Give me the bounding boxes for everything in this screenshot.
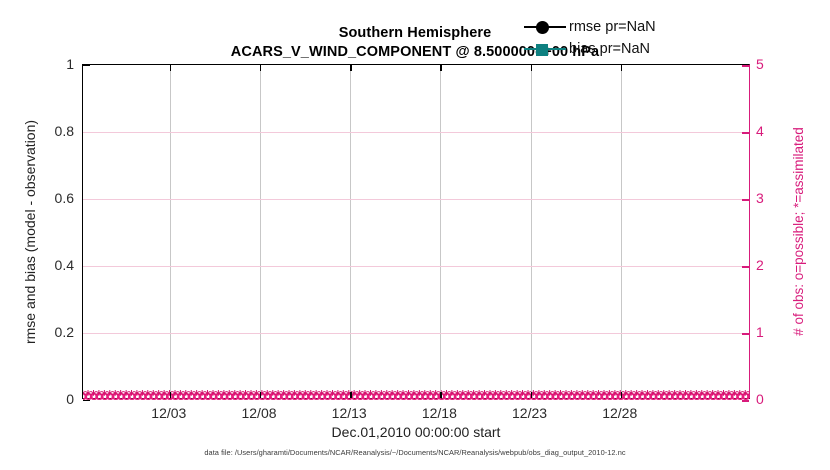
obs-assimilated-marker: * xyxy=(574,390,580,402)
obs-possible-marker: o xyxy=(443,390,451,403)
obs-assimilated-marker: * xyxy=(188,390,194,402)
obs-assimilated-marker: * xyxy=(595,390,601,402)
obs-assimilated-marker: * xyxy=(226,390,232,402)
obs-assimilated-marker: * xyxy=(552,390,558,402)
obs-assimilated-marker: * xyxy=(557,390,563,402)
x-axis-tick xyxy=(531,392,532,398)
obs-assimilated-marker: * xyxy=(693,390,699,402)
obs-assimilated-marker: * xyxy=(606,390,612,402)
x-axis-tick xyxy=(350,392,351,398)
obs-possible-marker: o xyxy=(693,390,701,403)
x-axis-tick-label: 12/13 xyxy=(309,406,389,420)
legend-sample-bias xyxy=(524,40,566,58)
obs-possible-marker: o xyxy=(513,390,521,403)
y-axis-left-tick-label: 0 xyxy=(4,392,74,406)
obs-possible-marker: o xyxy=(448,390,456,403)
obs-possible-marker: o xyxy=(236,390,244,403)
obs-assimilated-marker: * xyxy=(405,390,411,402)
obs-assimilated-marker: * xyxy=(585,390,591,402)
y-axis-left-tick-label: 0.6 xyxy=(4,191,74,205)
obs-assimilated-marker: * xyxy=(313,390,319,402)
obs-possible-marker: o xyxy=(416,390,424,403)
obs-possible-marker: o xyxy=(307,390,315,403)
obs-possible-marker: o xyxy=(622,390,630,403)
obs-possible-marker: o xyxy=(226,390,234,403)
x-gridline xyxy=(621,65,622,398)
obs-possible-marker: o xyxy=(546,390,554,403)
obs-assimilated-marker: * xyxy=(443,390,449,402)
obs-assimilated-marker: * xyxy=(101,390,107,402)
obs-assimilated-marker: * xyxy=(362,390,368,402)
y-axis-left-tick xyxy=(83,400,90,401)
square-marker-icon xyxy=(536,44,548,56)
obs-possible-marker: o xyxy=(459,390,467,403)
obs-possible-marker: o xyxy=(112,390,120,403)
obs-possible-marker: o xyxy=(367,390,375,403)
obs-assimilated-marker: * xyxy=(633,390,639,402)
obs-assimilated-marker: * xyxy=(612,390,618,402)
obs-assimilated-marker: * xyxy=(460,390,466,402)
y-axis-right-tick-label: 1 xyxy=(756,325,796,339)
obs-assimilated-marker: * xyxy=(661,390,667,402)
obs-possible-marker: o xyxy=(90,390,98,403)
y-axis-left-tick-label: 1 xyxy=(4,57,74,71)
obs-possible-marker: o xyxy=(351,390,359,403)
obs-possible-marker: o xyxy=(361,390,369,403)
obs-possible-marker: o xyxy=(106,390,114,403)
obs-assimilated-marker: * xyxy=(172,390,178,402)
obs-assimilated-marker: * xyxy=(547,390,553,402)
obs-possible-marker: o xyxy=(470,390,478,403)
obs-assimilated-marker: * xyxy=(134,390,140,402)
obs-possible-marker: o xyxy=(209,390,217,403)
obs-assimilated-marker: * xyxy=(215,390,221,402)
obs-possible-marker: o xyxy=(144,390,152,403)
obs-assimilated-marker: * xyxy=(568,390,574,402)
obs-possible-marker: o xyxy=(389,390,397,403)
obs-assimilated-marker: * xyxy=(394,390,400,402)
obs-assimilated-marker: * xyxy=(270,390,276,402)
obs-possible-marker: o xyxy=(600,390,608,403)
obs-possible-marker: o xyxy=(628,390,636,403)
obs-assimilated-marker: * xyxy=(492,390,498,402)
obs-assimilated-marker: * xyxy=(183,390,189,402)
obs-possible-marker: o xyxy=(508,390,516,403)
obs-assimilated-marker: * xyxy=(199,390,205,402)
obs-possible-marker: o xyxy=(492,390,500,403)
obs-assimilated-marker: * xyxy=(709,390,715,402)
plot-area: o*o*o*o*o*o*o*o*o*o*o*o*o*o*o*o*o*o*o*o*… xyxy=(82,64,750,399)
obs-possible-marker: o xyxy=(247,390,255,403)
obs-assimilated-marker: * xyxy=(563,390,569,402)
x-axis-tick-label: 12/23 xyxy=(490,406,570,420)
obs-assimilated-marker: * xyxy=(340,390,346,402)
obs-possible-marker: o xyxy=(454,390,462,403)
obs-assimilated-marker: * xyxy=(644,390,650,402)
obs-assimilated-marker: * xyxy=(308,390,314,402)
obs-assimilated-marker: * xyxy=(454,390,460,402)
obs-possible-marker: o xyxy=(709,390,717,403)
obs-possible-marker: o xyxy=(644,390,652,403)
obs-possible-marker: o xyxy=(285,390,293,403)
obs-assimilated-marker: * xyxy=(666,390,672,402)
obs-assimilated-marker: * xyxy=(726,390,732,402)
obs-assimilated-marker: * xyxy=(449,390,455,402)
obs-possible-marker: o xyxy=(666,390,674,403)
obs-possible-marker: o xyxy=(590,390,598,403)
obs-assimilated-marker: * xyxy=(720,390,726,402)
obs-possible-marker: o xyxy=(568,390,576,403)
chart-title-block: Southern Hemisphere ACARS_V_WIND_COMPONE… xyxy=(0,24,830,62)
x-axis-tick-label: 12/28 xyxy=(580,406,660,420)
obs-possible-marker: o xyxy=(655,390,663,403)
obs-possible-marker: o xyxy=(171,390,179,403)
x-axis-tick-label: 12/18 xyxy=(399,406,479,420)
x-axis-tick-top xyxy=(260,65,261,71)
obs-assimilated-marker: * xyxy=(699,390,705,402)
obs-assimilated-marker: * xyxy=(688,390,694,402)
x-axis-tick-top xyxy=(440,65,441,71)
obs-assimilated-marker: * xyxy=(253,390,259,402)
obs-assimilated-marker: * xyxy=(514,390,520,402)
obs-possible-marker: o xyxy=(720,390,728,403)
obs-assimilated-marker: * xyxy=(177,390,183,402)
obs-possible-marker: o xyxy=(264,390,272,403)
obs-possible-marker: o xyxy=(465,390,473,403)
obs-possible-marker: o xyxy=(329,390,337,403)
obs-assimilated-marker: * xyxy=(242,390,248,402)
obs-assimilated-marker: * xyxy=(237,390,243,402)
obs-possible-marker: o xyxy=(383,390,391,403)
obs-assimilated-marker: * xyxy=(677,390,683,402)
obs-assimilated-marker: * xyxy=(650,390,656,402)
y-axis-right-title-text: # of obs: o=possible; *=assimilated xyxy=(791,127,806,336)
obs-assimilated-marker: * xyxy=(335,390,341,402)
y-axis-right-tick xyxy=(742,400,749,402)
obs-possible-marker: o xyxy=(291,390,299,403)
obs-assimilated-marker: * xyxy=(318,390,324,402)
obs-assimilated-marker: * xyxy=(433,390,439,402)
obs-assimilated-marker: * xyxy=(210,390,216,402)
y-axis-right-tick xyxy=(742,199,749,201)
obs-assimilated-marker: * xyxy=(536,390,542,402)
obs-assimilated-marker: * xyxy=(324,390,330,402)
obs-possible-marker: o xyxy=(275,390,283,403)
obs-possible-marker: o xyxy=(122,390,130,403)
obs-possible-marker: o xyxy=(215,390,223,403)
obs-possible-marker: o xyxy=(95,390,103,403)
circle-marker-icon xyxy=(536,21,549,34)
y-axis-right-tick xyxy=(742,132,749,134)
obs-possible-marker: o xyxy=(280,390,288,403)
obs-assimilated-marker: * xyxy=(112,390,118,402)
obs-assimilated-marker: * xyxy=(731,390,737,402)
obs-possible-marker: o xyxy=(193,390,201,403)
obs-assimilated-marker: * xyxy=(90,390,96,402)
obs-possible-marker: o xyxy=(475,390,483,403)
obs-assimilated-marker: * xyxy=(509,390,515,402)
obs-assimilated-marker: * xyxy=(150,390,156,402)
obs-assimilated-marker: * xyxy=(601,390,607,402)
obs-possible-marker: o xyxy=(155,390,163,403)
obs-possible-marker: o xyxy=(160,390,168,403)
obs-possible-marker: o xyxy=(182,390,190,403)
obs-possible-marker: o xyxy=(334,390,342,403)
obs-possible-marker: o xyxy=(432,390,440,403)
obs-possible-marker: o xyxy=(318,390,326,403)
y-axis-left-tick-label: 0.8 xyxy=(4,124,74,138)
chart-title-line-2: ACARS_V_WIND_COMPONENT @ 8.500000e+00 hP… xyxy=(0,43,830,62)
obs-possible-marker: o xyxy=(313,390,321,403)
obs-assimilated-marker: * xyxy=(427,390,433,402)
obs-assimilated-marker: * xyxy=(280,390,286,402)
obs-possible-marker: o xyxy=(562,390,570,403)
obs-possible-marker: o xyxy=(611,390,619,403)
obs-possible-marker: o xyxy=(541,390,549,403)
obs-possible-marker: o xyxy=(117,390,125,403)
chart-legend: rmse pr=NaN bias pr=NaN xyxy=(524,16,656,60)
obs-possible-marker: o xyxy=(394,390,402,403)
x-axis-tick-top xyxy=(621,65,622,71)
y-axis-left-title-text: rmse and bias (model - observation) xyxy=(22,119,38,343)
obs-possible-marker: o xyxy=(725,390,733,403)
y-axis-right-tick-label: 0 xyxy=(756,392,796,406)
obs-assimilated-marker: * xyxy=(194,390,200,402)
obs-assimilated-marker: * xyxy=(118,390,124,402)
obs-assimilated-marker: * xyxy=(145,390,151,402)
obs-possible-marker: o xyxy=(356,390,364,403)
data-file-footer: data file: /Users/gharamti/Documents/NCA… xyxy=(0,448,830,457)
y-axis-left-tick xyxy=(83,65,90,66)
obs-assimilated-marker: * xyxy=(128,390,134,402)
obs-possible-marker: o xyxy=(551,390,559,403)
obs-possible-marker: o xyxy=(198,390,206,403)
obs-possible-marker: o xyxy=(486,390,494,403)
x-axis-tick-label: 12/03 xyxy=(129,406,209,420)
obs-possible-marker: o xyxy=(177,390,185,403)
obs-possible-marker: o xyxy=(405,390,413,403)
obs-assimilated-marker: * xyxy=(264,390,270,402)
obs-assimilated-marker: * xyxy=(704,390,710,402)
y-axis-right-tick xyxy=(742,65,749,67)
obs-possible-marker: o xyxy=(378,390,386,403)
obs-assimilated-marker: * xyxy=(628,390,634,402)
obs-possible-marker: o xyxy=(481,390,489,403)
obs-assimilated-marker: * xyxy=(351,390,357,402)
obs-possible-marker: o xyxy=(372,390,380,403)
obs-possible-marker: o xyxy=(535,390,543,403)
x-axis-tick-top xyxy=(170,65,171,71)
obs-possible-marker: o xyxy=(188,390,196,403)
obs-possible-marker: o xyxy=(231,390,239,403)
obs-possible-marker: o xyxy=(595,390,603,403)
legend-item-bias: bias pr=NaN xyxy=(524,38,656,60)
obs-assimilated-marker: * xyxy=(286,390,292,402)
x-axis-tick xyxy=(170,392,171,398)
obs-possible-marker: o xyxy=(557,390,565,403)
obs-assimilated-marker: * xyxy=(248,390,254,402)
y-axis-right-tick xyxy=(742,266,749,268)
obs-assimilated-marker: * xyxy=(671,390,677,402)
obs-assimilated-marker: * xyxy=(161,390,167,402)
obs-assimilated-marker: * xyxy=(503,390,509,402)
obs-possible-marker: o xyxy=(399,390,407,403)
obs-assimilated-marker: * xyxy=(471,390,477,402)
obs-possible-marker: o xyxy=(671,390,679,403)
x-gridline xyxy=(260,65,261,398)
obs-assimilated-marker: * xyxy=(465,390,471,402)
y-axis-right-tick-label: 2 xyxy=(756,258,796,272)
y-axis-right-tick xyxy=(742,333,749,335)
obs-assimilated-marker: * xyxy=(139,390,145,402)
x-axis-tick-top xyxy=(531,65,532,71)
obs-assimilated-marker: * xyxy=(715,390,721,402)
x-gridline xyxy=(170,65,171,398)
obs-possible-marker: o xyxy=(649,390,657,403)
obs-assimilated-marker: * xyxy=(232,390,238,402)
obs-possible-marker: o xyxy=(296,390,304,403)
obs-assimilated-marker: * xyxy=(400,390,406,402)
obs-possible-marker: o xyxy=(242,390,250,403)
obs-assimilated-marker: * xyxy=(302,390,308,402)
obs-possible-marker: o xyxy=(340,390,348,403)
obs-assimilated-marker: * xyxy=(373,390,379,402)
obs-possible-marker: o xyxy=(704,390,712,403)
obs-assimilated-marker: * xyxy=(329,390,335,402)
legend-label-bias: bias pr=NaN xyxy=(566,41,650,57)
obs-possible-marker: o xyxy=(133,390,141,403)
y-axis-right-tick-label: 4 xyxy=(756,124,796,138)
obs-assimilated-marker: * xyxy=(422,390,428,402)
obs-assimilated-marker: * xyxy=(204,390,210,402)
y-axis-left-tick-label: 0.4 xyxy=(4,258,74,272)
x-gridline xyxy=(350,65,351,398)
obs-possible-marker: o xyxy=(150,390,158,403)
y-gridline xyxy=(83,132,749,133)
obs-possible-marker: o xyxy=(427,390,435,403)
y-axis-left-tick-label: 0.2 xyxy=(4,325,74,339)
obs-possible-marker: o xyxy=(606,390,614,403)
obs-assimilated-marker: * xyxy=(498,390,504,402)
obs-possible-marker: o xyxy=(573,390,581,403)
obs-assimilated-marker: * xyxy=(384,390,390,402)
y-gridline xyxy=(83,199,749,200)
obs-assimilated-marker: * xyxy=(156,390,162,402)
obs-assimilated-marker: * xyxy=(623,390,629,402)
obs-possible-marker: o xyxy=(682,390,690,403)
obs-assimilated-marker: * xyxy=(579,390,585,402)
x-axis-tick xyxy=(621,392,622,398)
obs-possible-marker: o xyxy=(584,390,592,403)
obs-assimilated-marker: * xyxy=(275,390,281,402)
obs-possible-marker: o xyxy=(579,390,587,403)
obs-possible-marker: o xyxy=(676,390,684,403)
obs-assimilated-marker: * xyxy=(590,390,596,402)
y-axis-right-title: # of obs: o=possible; *=assimilated xyxy=(780,64,816,399)
legend-sample-rmse xyxy=(524,18,566,36)
obs-assimilated-marker: * xyxy=(367,390,373,402)
obs-assimilated-marker: * xyxy=(655,390,661,402)
y-gridline xyxy=(83,333,749,334)
y-axis-right-tick-label: 3 xyxy=(756,191,796,205)
obs-assimilated-marker: * xyxy=(476,390,482,402)
obs-assimilated-marker: * xyxy=(487,390,493,402)
x-axis-tick-top xyxy=(350,65,351,71)
observation-count-marker-band: o*o*o*o*o*o*o*o*o*o*o*o*o*o*o*o*o*o*o*o*… xyxy=(83,390,749,403)
obs-possible-marker: o xyxy=(687,390,695,403)
x-axis-tick-label: 12/08 xyxy=(219,406,299,420)
obs-possible-marker: o xyxy=(269,390,277,403)
x-axis-title: Dec.01,2010 00:00:00 start xyxy=(82,424,750,440)
legend-label-rmse: rmse pr=NaN xyxy=(566,19,656,35)
obs-possible-marker: o xyxy=(421,390,429,403)
obs-assimilated-marker: * xyxy=(297,390,303,402)
obs-possible-marker: o xyxy=(204,390,212,403)
obs-possible-marker: o xyxy=(128,390,136,403)
obs-assimilated-marker: * xyxy=(389,390,395,402)
obs-assimilated-marker: * xyxy=(682,390,688,402)
obs-assimilated-marker: * xyxy=(481,390,487,402)
obs-assimilated-marker: * xyxy=(221,390,227,402)
obs-assimilated-marker: * xyxy=(411,390,417,402)
x-axis-tick xyxy=(260,392,261,398)
obs-assimilated-marker: * xyxy=(356,390,362,402)
obs-assimilated-marker: * xyxy=(416,390,422,402)
obs-assimilated-marker: * xyxy=(291,390,297,402)
obs-assimilated-marker: * xyxy=(639,390,645,402)
obs-possible-marker: o xyxy=(714,390,722,403)
chart-title-line-1: Southern Hemisphere xyxy=(0,24,830,43)
obs-assimilated-marker: * xyxy=(541,390,547,402)
y-gridline xyxy=(83,266,749,267)
obs-possible-marker: o xyxy=(220,390,228,403)
legend-item-rmse: rmse pr=NaN xyxy=(524,16,656,38)
obs-assimilated-marker: * xyxy=(107,390,113,402)
obs-possible-marker: o xyxy=(503,390,511,403)
obs-possible-marker: o xyxy=(660,390,668,403)
obs-possible-marker: o xyxy=(497,390,505,403)
y-axis-right-tick-label: 5 xyxy=(756,57,796,71)
obs-possible-marker: o xyxy=(731,390,739,403)
obs-possible-marker: o xyxy=(410,390,418,403)
obs-assimilated-marker: * xyxy=(519,390,525,402)
x-gridline xyxy=(531,65,532,398)
obs-assimilated-marker: * xyxy=(378,390,384,402)
obs-possible-marker: o xyxy=(638,390,646,403)
obs-possible-marker: o xyxy=(323,390,331,403)
obs-possible-marker: o xyxy=(633,390,641,403)
obs-possible-marker: o xyxy=(519,390,527,403)
x-gridline xyxy=(440,65,441,398)
obs-assimilated-marker: * xyxy=(123,390,129,402)
y-axis-left-title: rmse and bias (model - observation) xyxy=(12,64,48,399)
obs-possible-marker: o xyxy=(139,390,147,403)
obs-possible-marker: o xyxy=(101,390,109,403)
x-axis-tick xyxy=(440,392,441,398)
obs-possible-marker: o xyxy=(698,390,706,403)
obs-possible-marker: o xyxy=(302,390,310,403)
obs-assimilated-marker: * xyxy=(96,390,102,402)
